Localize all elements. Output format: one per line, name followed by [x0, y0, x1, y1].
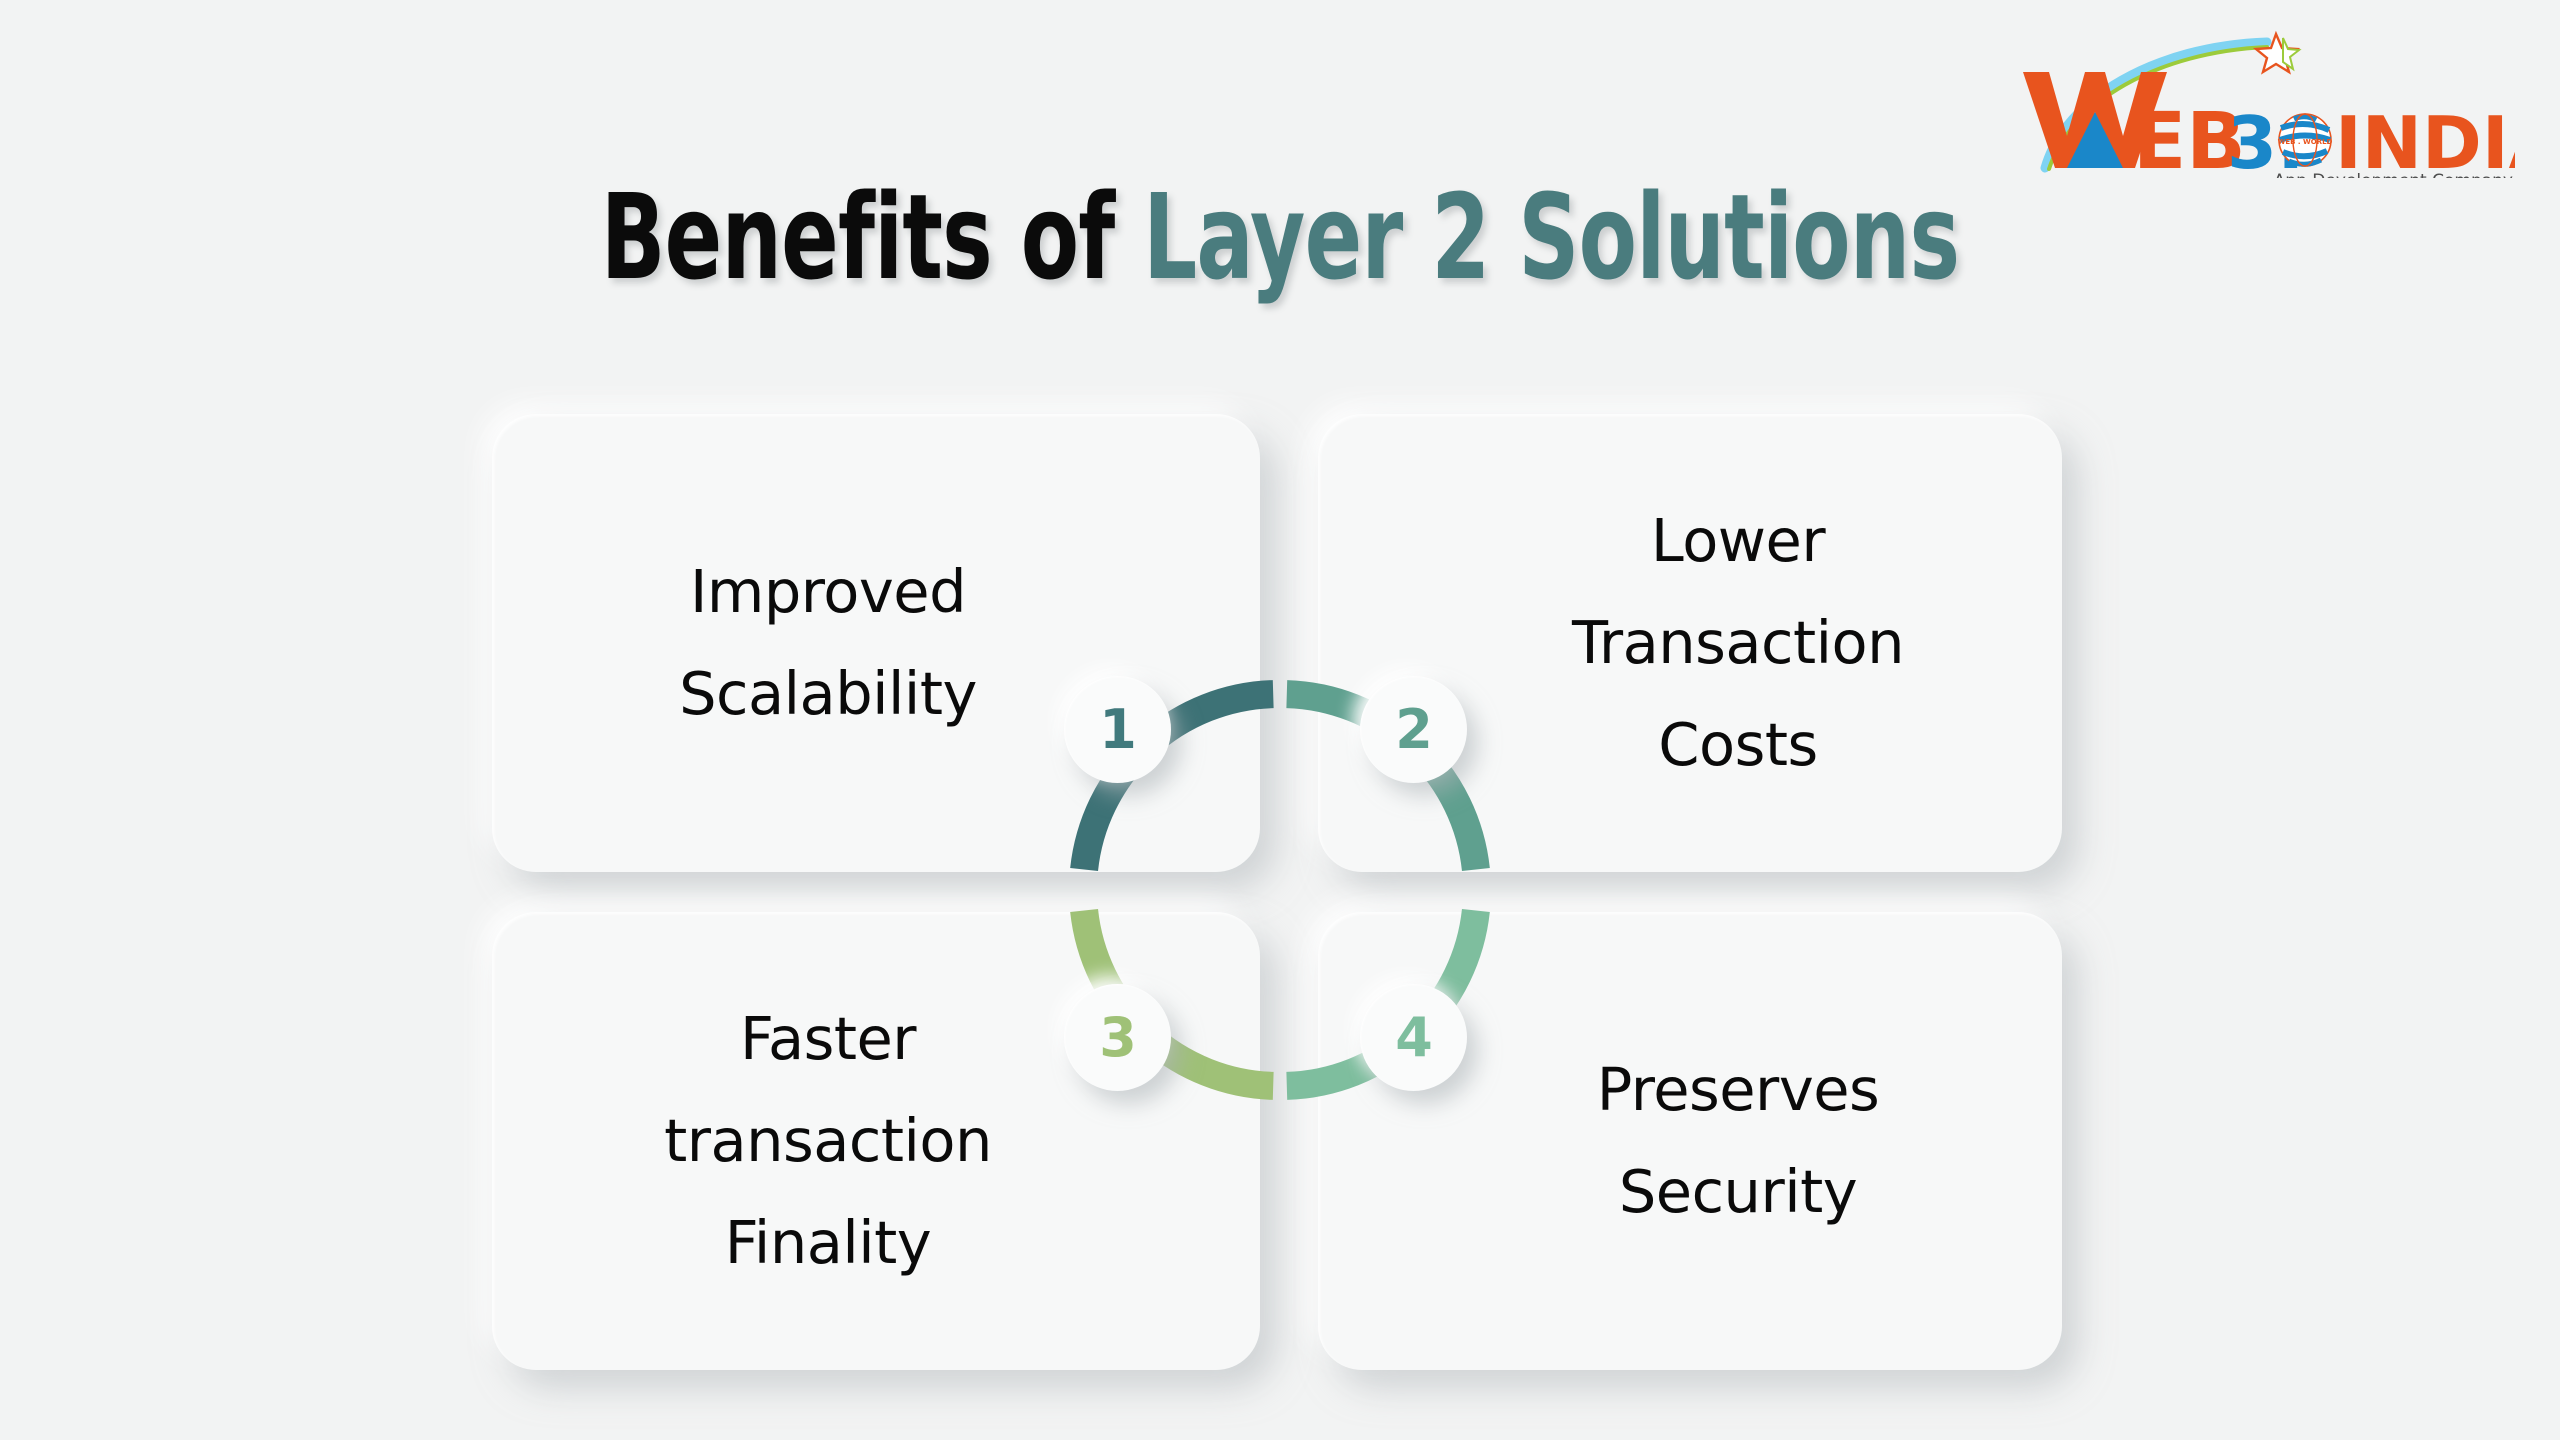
benefit-card-preserves-security[interactable]: Preserves Security: [1318, 912, 2062, 1370]
globe-label: WEB . WORLD: [2278, 138, 2333, 146]
benefit-card-label: Lower Transaction Costs: [1572, 490, 1904, 796]
step-badge-2[interactable]: 2: [1360, 676, 1467, 783]
page-title-prefix: Benefits of: [601, 168, 1143, 306]
benefit-card-lower-transaction-costs[interactable]: Lower Transaction Costs: [1318, 414, 2062, 872]
step-badge-1[interactable]: 1: [1064, 676, 1171, 783]
logo-country: INDIA: [2335, 101, 2515, 178]
infographic-canvas: EB 3. WEB . WORLD INDIA App Development …: [0, 0, 2560, 1440]
step-badge-number: 2: [1395, 703, 1432, 757]
step-badge-3[interactable]: 3: [1064, 984, 1171, 1091]
benefit-card-faster-transaction-finality[interactable]: Faster transaction Finality: [492, 912, 1260, 1370]
page-title: Benefits of Layer 2 Solutions: [256, 176, 2304, 300]
globe-icon: WEB . WORLD: [2278, 114, 2333, 166]
page-title-highlight: Layer 2 Solutions: [1143, 168, 1959, 306]
logo-artwork: EB 3. WEB . WORLD INDIA App Development …: [2005, 28, 2515, 178]
benefit-card-label: Preserves Security: [1597, 1039, 1880, 1243]
benefit-card-label: Faster transaction Finality: [664, 988, 992, 1294]
benefit-card-label: Improved Scalability: [679, 541, 977, 745]
step-badge-number: 4: [1395, 1011, 1432, 1065]
step-badge-4[interactable]: 4: [1360, 984, 1467, 1091]
benefit-card-improved-scalability[interactable]: Improved Scalability: [492, 414, 1260, 872]
step-badge-number: 3: [1099, 1011, 1136, 1065]
logo-tagline: App Development Company: [2274, 171, 2513, 178]
step-badge-number: 1: [1099, 703, 1136, 757]
brand-logo[interactable]: EB 3. WEB . WORLD INDIA App Development …: [2005, 28, 2515, 178]
